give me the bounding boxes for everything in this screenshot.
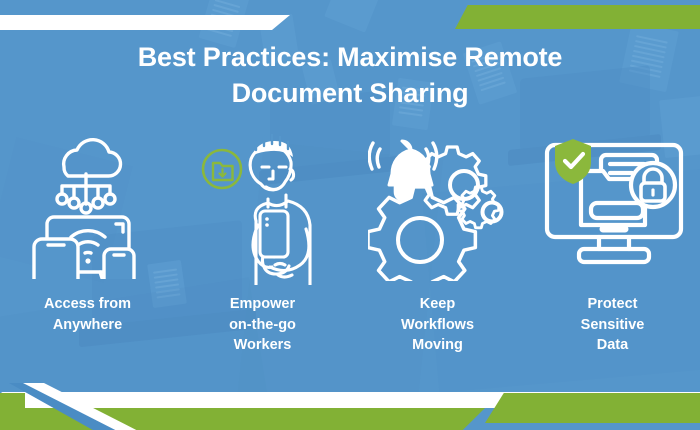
page-title-line-2: Document Sharing <box>60 76 640 112</box>
feature-label: Empower on-the-go Workers <box>229 294 296 356</box>
feature-label: Protect Sensitive Data <box>581 294 645 356</box>
monitor-folder-lock-icon <box>537 130 689 280</box>
feature-item-empower-workers: Empower on-the-go Workers <box>175 130 350 356</box>
person-with-smartphone-icon <box>194 130 332 280</box>
top-white-banner <box>0 15 290 30</box>
infographic-canvas: Best Practices: Maximise Remote Document… <box>0 0 700 430</box>
bottom-green-banner-right <box>485 393 700 423</box>
feature-item-keep-workflows-moving: Keep Workflows Moving <box>350 130 525 356</box>
background-document <box>324 0 380 33</box>
gear-icon-large <box>368 187 475 281</box>
cloud-devices-wifi-icon <box>24 130 152 280</box>
page-title: Best Practices: Maximise Remote Document… <box>0 40 700 112</box>
feature-list: Access from Anywhere <box>0 130 700 370</box>
top-green-banner <box>455 5 700 29</box>
feature-item-access-anywhere: Access from Anywhere <box>0 130 175 335</box>
feature-label: Access from Anywhere <box>44 294 131 335</box>
bell-and-gears-icon <box>368 130 508 280</box>
feature-label: Keep Workflows Moving <box>401 294 474 356</box>
feature-item-protect-sensitive-data: Protect Sensitive Data <box>525 130 700 356</box>
page-title-line-1: Best Practices: Maximise Remote <box>60 40 640 76</box>
folder-download-icon <box>203 150 241 188</box>
